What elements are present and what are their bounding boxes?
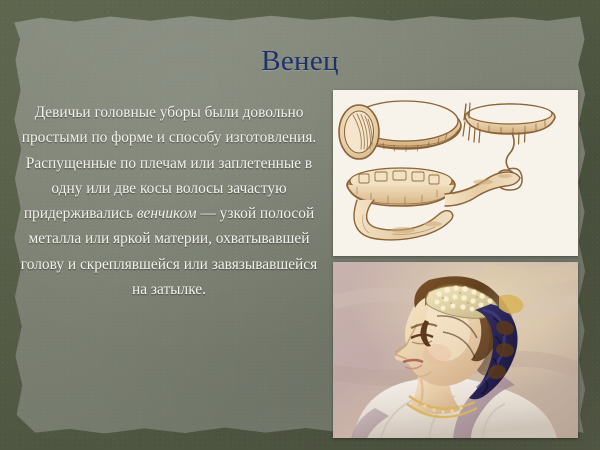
slide-canvas: Венец Девичьи головные уборы были доволь… (0, 0, 600, 450)
body-paragraph: Девичьи головные уборы были довольно про… (18, 100, 320, 302)
illustration-image (333, 90, 578, 256)
headband-drawing-svg (333, 90, 578, 256)
page-title: Венец (0, 47, 600, 76)
body-text-emphasis: венчиком (137, 205, 197, 222)
woman-profile-painting-svg (333, 262, 578, 438)
portrait-image (333, 262, 578, 438)
